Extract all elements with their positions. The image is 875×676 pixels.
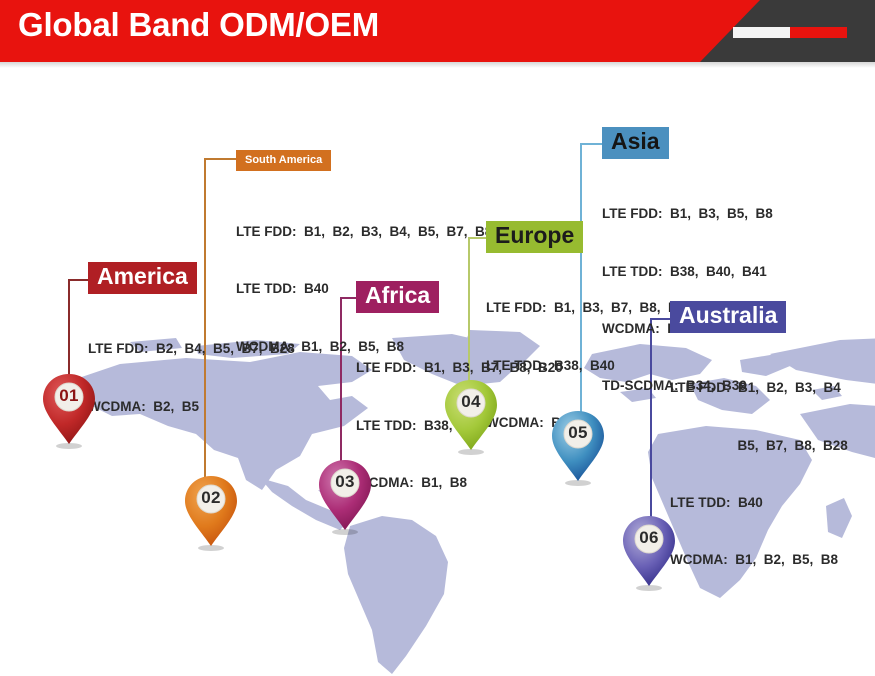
region-label-africa: Africa [356,281,439,313]
header-white-bar-icon [733,27,790,38]
band-line: LTE FDD: B1, B3, B5, B8 [602,204,773,223]
map-pin-06-number: 06 [620,528,678,548]
map-pin-05[interactable]: 05 [549,409,607,487]
map-pin-02-number: 02 [182,488,240,508]
region-australia[interactable]: Australia LTE FDD: B1, B2, B3, B4 B5, B7… [670,301,848,608]
map-pin-04-number: 04 [442,392,500,412]
band-line: WCDMA: B1, B8 [356,473,563,492]
page-title: Global Band ODM/OEM [18,6,379,44]
map-pin-02[interactable]: 02 [182,474,240,552]
map-pin-06[interactable]: 06 [620,514,678,592]
band-line: WCDMA: B2, B5 [88,397,295,416]
page-header: Global Band ODM/OEM [0,0,875,62]
header-red-bar-icon [790,27,847,38]
map-pin-01-number: 01 [40,386,98,406]
map-pin-04[interactable]: 04 [442,378,500,456]
header-shadow [0,62,875,68]
region-label-australia: Australia [670,301,786,333]
map-pin-01[interactable]: 01 [40,372,98,450]
region-label-asia: Asia [602,127,669,159]
band-line: WCDMA: B1, B2, B5, B8 [670,550,848,569]
map-pin-05-number: 05 [549,423,607,443]
band-line: LTE TDD: B38, B40, B41 [602,262,773,281]
band-line: LTE FDD: B1, B2, B3, B4, B5, B7, B8, B28 [236,222,528,241]
band-line: LTE TDD: B40 [670,493,848,512]
region-label-south-america: South America [236,150,331,171]
band-line: LTE FDD: B1, B2, B3, B4 [670,378,848,397]
map-pin-03[interactable]: 03 [316,458,374,536]
region-label-america: America [88,262,197,294]
map-pin-03-number: 03 [316,472,374,492]
band-line: B5, B7, B8, B28 [670,436,848,455]
region-bands-australia: LTE FDD: B1, B2, B3, B4 B5, B7, B8, B28 … [670,340,848,608]
region-label-europe: Europe [486,221,583,253]
